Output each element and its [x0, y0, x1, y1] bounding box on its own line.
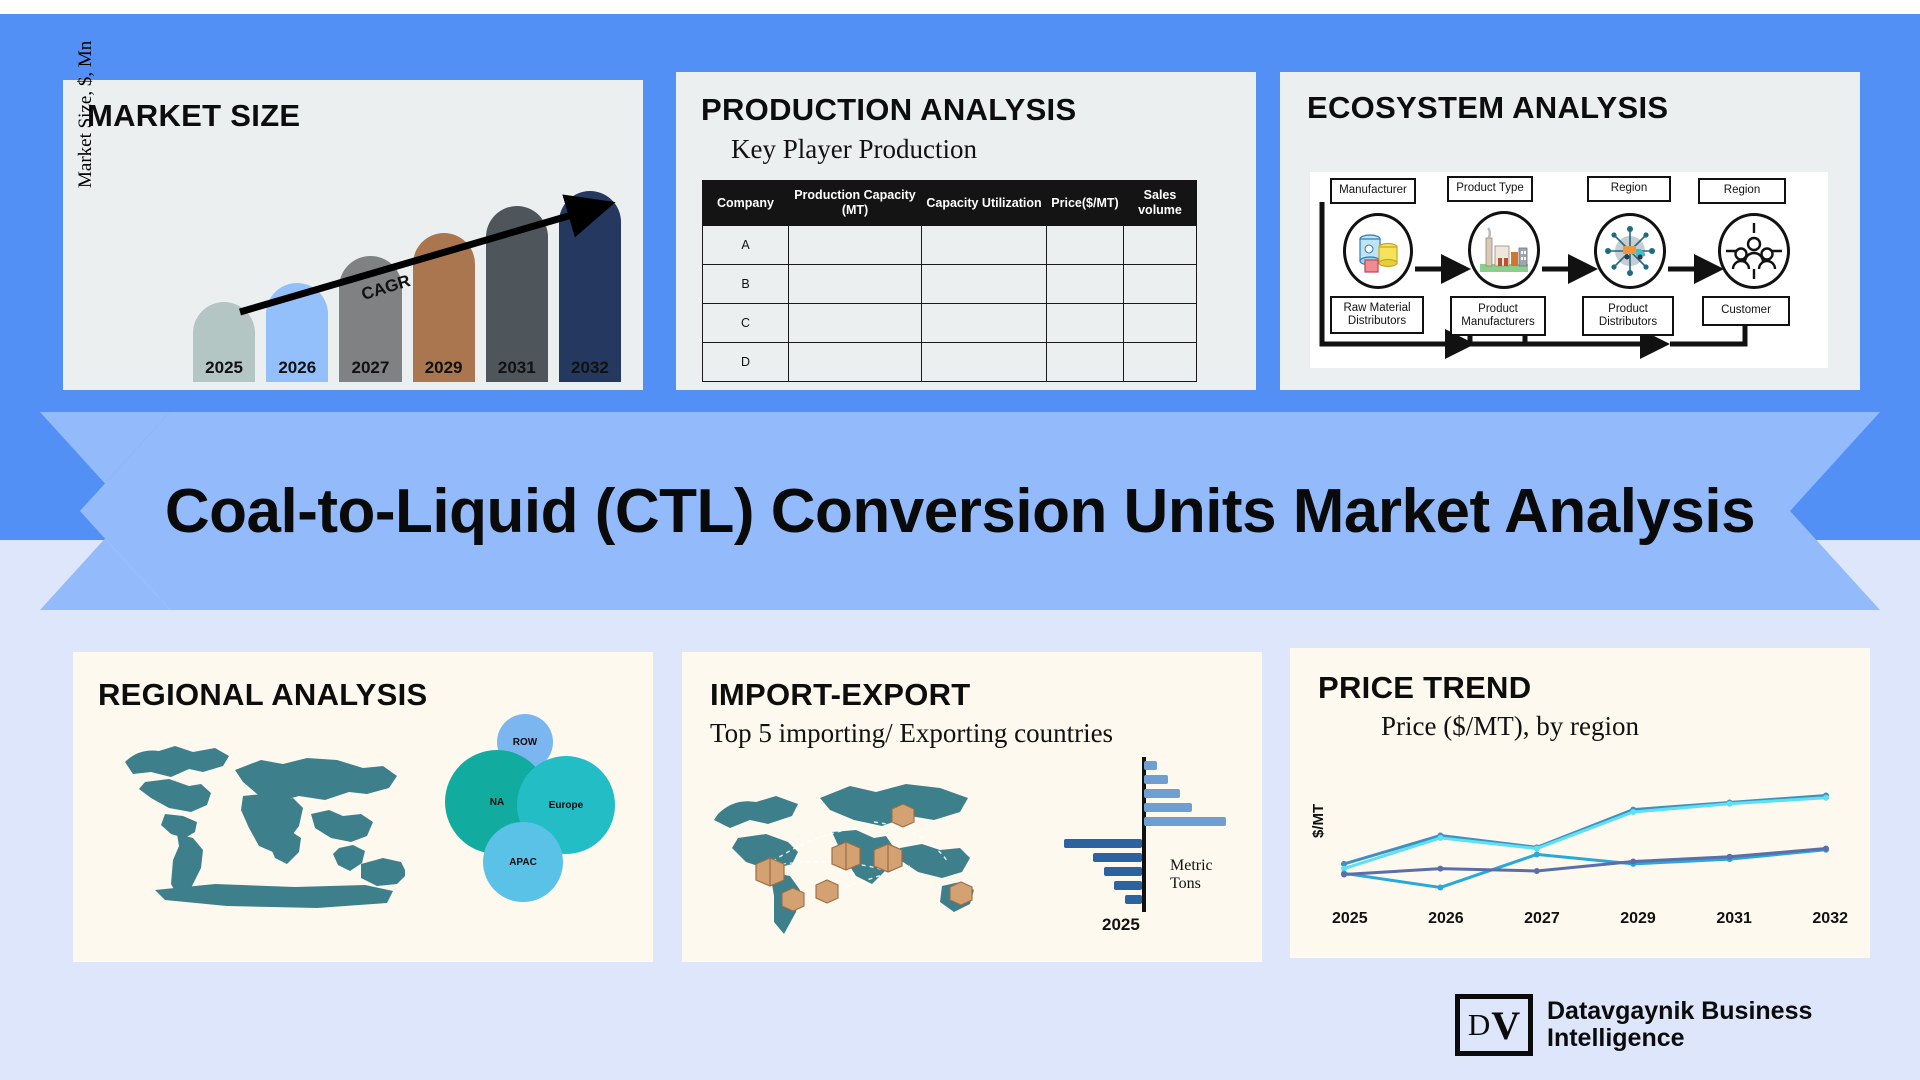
- logo-line-1: Datavgaynik Business: [1547, 998, 1812, 1025]
- production-analysis-title: PRODUCTION ANALYSIS: [701, 92, 1076, 128]
- table-header-row: Company Production Capacity (MT) Capacit…: [703, 181, 1197, 226]
- table-cell-sales: [1124, 304, 1197, 343]
- tornado-bar-export-3: [1104, 867, 1142, 876]
- price-trend-point: [1534, 868, 1540, 874]
- price-trend-x-tick-2029: 2029: [1620, 910, 1656, 928]
- column-header-sales-volume: Sales volume: [1124, 181, 1197, 226]
- table-cell-company: D: [703, 343, 789, 382]
- production-analysis-subtitle: Key Player Production: [731, 134, 977, 165]
- price-trend-x-tick-2032: 2032: [1812, 910, 1848, 928]
- table-cell-utilization: [922, 304, 1047, 343]
- table-cell-capacity: [789, 304, 922, 343]
- price-trend-x-tick-2026: 2026: [1428, 910, 1464, 928]
- table-cell-capacity: [789, 226, 922, 265]
- import-export-tornado-chart: Metric Tons 2025: [1042, 757, 1242, 932]
- customers-target-icon: [1718, 213, 1790, 289]
- price-trend-y-axis-label: $/MT: [1310, 804, 1327, 838]
- market-size-bar-label: 2029: [425, 358, 463, 382]
- column-header-price: Price($/MT): [1047, 181, 1124, 226]
- market-size-bar-label: 2027: [352, 358, 390, 382]
- market-size-bar-label: 2031: [498, 358, 536, 382]
- price-trend-point: [1437, 884, 1443, 890]
- import-export-subtitle: Top 5 importing/ Exporting countries: [710, 718, 1113, 749]
- price-trend-point: [1534, 846, 1540, 852]
- price-trend-point: [1341, 872, 1347, 878]
- tornado-bar-export-5: [1125, 895, 1142, 904]
- tornado-bar-import-3: [1144, 789, 1180, 798]
- price-trend-point: [1823, 795, 1829, 801]
- table-row: B: [703, 265, 1197, 304]
- logo-mark-dv: D V: [1455, 994, 1533, 1056]
- page-title: Coal-to-Liquid (CTL) Conversion Units Ma…: [0, 412, 1920, 610]
- column-header-capacity-utilization: Capacity Utilization: [922, 181, 1047, 226]
- eco-top-box-manufacturer: Manufacturer: [1330, 178, 1416, 204]
- logo-letter-d: D: [1468, 1007, 1490, 1043]
- price-trend-point: [1727, 854, 1733, 860]
- tornado-unit-label: Metric Tons: [1170, 857, 1242, 893]
- eco-bottom-box-raw-material-distributors: Raw Material Distributors: [1330, 296, 1424, 334]
- region-bubble-apac: APAC: [483, 822, 563, 902]
- tornado-bar-import-2: [1144, 775, 1168, 784]
- barrels-icon: [1343, 213, 1413, 289]
- price-trend-x-tick-2027: 2027: [1524, 910, 1560, 928]
- table-cell-sales: [1124, 226, 1197, 265]
- table-row: A: [703, 226, 1197, 265]
- table-cell-utilization: [922, 343, 1047, 382]
- market-size-bar-2029: 2029: [413, 233, 475, 382]
- price-trend-title: PRICE TREND: [1318, 670, 1531, 706]
- logo-line-2: Intelligence: [1547, 1025, 1812, 1052]
- table-cell-utilization: [922, 265, 1047, 304]
- table-cell-price: [1047, 343, 1124, 382]
- price-trend-point: [1437, 835, 1443, 841]
- price-trend-line-series-4: [1344, 849, 1826, 875]
- eco-bottom-box-product-manufacturers: Product Manufacturers: [1450, 296, 1546, 336]
- market-size-bar-label: 2025: [205, 358, 243, 382]
- table-cell-company: C: [703, 304, 789, 343]
- table-cell-company: A: [703, 226, 789, 265]
- regional-analysis-title: REGIONAL ANALYSIS: [98, 677, 428, 713]
- company-logo: D V Datavgaynik Business Intelligence: [1455, 990, 1875, 1060]
- price-trend-x-tick-2025: 2025: [1332, 910, 1368, 928]
- table-cell-capacity: [789, 343, 922, 382]
- table-cell-capacity: [789, 265, 922, 304]
- market-size-card: MARKET SIZE Market Size, $, Mn 202520262…: [63, 80, 643, 390]
- eco-top-box-region-1: Region: [1587, 176, 1671, 202]
- ecosystem-analysis-card: ECOSYSTEM ANALYSIS Manufacturer: [1280, 72, 1860, 390]
- price-trend-point: [1630, 809, 1636, 815]
- world-map-icon: [115, 722, 405, 917]
- import-export-title: IMPORT-EXPORT: [710, 677, 971, 713]
- table-cell-price: [1047, 226, 1124, 265]
- price-trend-point: [1727, 801, 1733, 807]
- eco-bottom-box-customer: Customer: [1702, 296, 1790, 326]
- tornado-bar-import-5: [1144, 817, 1226, 826]
- table-cell-utilization: [922, 226, 1047, 265]
- ecosystem-analysis-title: ECOSYSTEM ANALYSIS: [1307, 90, 1668, 126]
- eco-top-box-product-type: Product Type: [1447, 176, 1533, 202]
- logo-wordmark: Datavgaynik Business Intelligence: [1547, 998, 1812, 1052]
- price-trend-x-tick-2031: 2031: [1716, 910, 1752, 928]
- table-cell-company: B: [703, 265, 789, 304]
- distribution-network-icon: [1594, 213, 1666, 289]
- region-bubble-chart: ROW NA Europe APAC: [445, 714, 625, 904]
- column-header-company: Company: [703, 181, 789, 226]
- factory-icon: [1468, 211, 1540, 289]
- tornado-bar-import-4: [1144, 803, 1192, 812]
- table-cell-sales: [1124, 343, 1197, 382]
- regional-analysis-card: REGIONAL ANALYSIS ROW NA Europe APAC: [73, 652, 653, 962]
- price-trend-plot: [1334, 778, 1844, 910]
- market-size-bar-label: 2026: [278, 358, 316, 382]
- table-row: D: [703, 343, 1197, 382]
- infographic-stage: Coal-to-Liquid (CTL) Conversion Units Ma…: [0, 0, 1920, 1080]
- eco-bottom-box-product-distributors: Product Distributors: [1582, 296, 1674, 336]
- market-size-bar-label: 2032: [571, 358, 609, 382]
- market-size-title: MARKET SIZE: [87, 98, 300, 134]
- ecosystem-diagram: Manufacturer Product Type Region Region: [1310, 172, 1828, 368]
- price-trend-point: [1437, 866, 1443, 872]
- table-cell-price: [1047, 265, 1124, 304]
- price-trend-point: [1630, 859, 1636, 865]
- table-cell-price: [1047, 304, 1124, 343]
- market-size-bar-2032: 2032: [559, 191, 621, 382]
- market-size-bar-2026: 2026: [266, 283, 328, 382]
- key-player-production-table: Company Production Capacity (MT) Capacit…: [702, 180, 1197, 382]
- market-size-bar-2031: 2031: [486, 206, 548, 382]
- eco-top-box-region-2: Region: [1698, 178, 1786, 204]
- tornado-bar-export-2: [1093, 853, 1142, 862]
- column-header-production-capacity: Production Capacity (MT): [789, 181, 922, 226]
- logo-letter-v: V: [1491, 1002, 1520, 1049]
- price-trend-subtitle: Price ($/MT), by region: [1360, 710, 1660, 742]
- price-trend-point: [1534, 851, 1540, 857]
- price-trend-card: PRICE TREND Price ($/MT), by region $/MT…: [1290, 648, 1870, 958]
- table-cell-sales: [1124, 265, 1197, 304]
- market-size-bar-2025: 2025: [193, 302, 255, 382]
- tornado-year-label: 2025: [1102, 915, 1140, 935]
- import-export-card: IMPORT-EXPORT Top 5 importing/ Exporting…: [682, 652, 1262, 962]
- tornado-bar-export-1: [1064, 839, 1142, 848]
- market-size-y-axis-label: Market Size, $, Mn: [75, 0, 97, 188]
- trade-routes-map-icon: [704, 762, 1014, 942]
- table-row: C: [703, 304, 1197, 343]
- price-trend-point: [1823, 846, 1829, 852]
- price-trend-x-axis-ticks: 202520262027202920312032: [1332, 910, 1848, 928]
- production-analysis-card: PRODUCTION ANALYSIS Key Player Productio…: [676, 72, 1256, 390]
- tornado-bar-export-4: [1114, 881, 1143, 890]
- tornado-bar-import-1: [1144, 761, 1157, 770]
